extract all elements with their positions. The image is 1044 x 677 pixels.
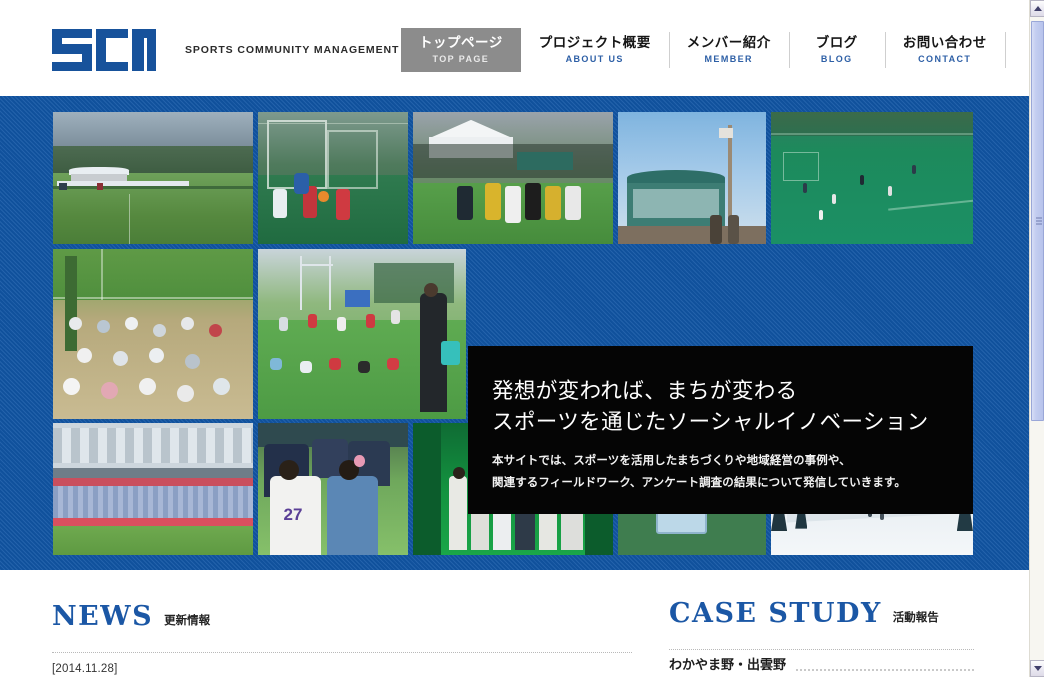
news-heading-en: NEWS	[52, 603, 153, 630]
nav-label-en: ABOUT US	[566, 53, 624, 67]
hero-message-panel: 発想が変われば、まちが変わる スポーツを通じたソーシャルイノベーション 本サイト…	[468, 346, 973, 514]
case-study-leader-dots	[796, 665, 974, 671]
hero-headline-line1: 発想が変われば、まちが変わる	[492, 376, 973, 407]
nav-label-jp: トップページ	[419, 34, 503, 52]
scrollbar-grip-icon	[1036, 218, 1042, 225]
lower-content: NEWS 更新情報 [2014.11.28] CASE STUDY 活動報告 わ…	[0, 570, 1029, 677]
case-study-list-item[interactable]: わかやま野・出雲野	[669, 657, 974, 673]
hero-photo-youth-baseball-team-27[interactable]: 27	[258, 423, 408, 555]
nav-item-member[interactable]: メンバー紹介 MEMBER	[669, 28, 789, 72]
hero-headline-line2: スポーツを通じたソーシャルイノベーション	[492, 407, 973, 438]
hero-photo-green-turf-hockey-pitch[interactable]	[771, 112, 973, 244]
nav-label-jp: メンバー紹介	[687, 34, 771, 52]
hero-band: 27 25	[0, 96, 1029, 570]
web-page: SPORTS COMMUNITY MANAGEMENT トップページ TOP P…	[0, 0, 1029, 677]
case-study-heading: CASE STUDY 活動報告	[669, 600, 974, 627]
nav-divider	[1005, 32, 1006, 68]
nav-label-en: TOP PAGE	[433, 53, 490, 67]
hero-photo-rugby-match-crowd-tent[interactable]	[413, 112, 613, 244]
case-study-item-title: わかやま野・出雲野	[669, 657, 786, 673]
news-heading-jp: 更新情報	[164, 616, 210, 631]
nav-label-en: CONTACT	[918, 53, 971, 67]
news-item-date[interactable]: [2014.11.28]	[52, 662, 632, 677]
hero-photo-lacrosse-practice-net[interactable]	[258, 112, 408, 244]
scroll-down-button[interactable]	[1030, 660, 1044, 677]
hero-photo-clubhouse-building[interactable]	[618, 112, 766, 244]
browser-viewport: SPORTS COMMUNITY MANAGEMENT トップページ TOP P…	[0, 0, 1044, 677]
scroll-up-button[interactable]	[1030, 0, 1044, 17]
scrollbar-track[interactable]	[1030, 17, 1044, 660]
news-list: [2014.11.28]	[52, 662, 632, 677]
nav-item-top-page[interactable]: トップページ TOP PAGE	[401, 28, 521, 72]
hero-sub-line2: 関連するフィールドワーク、アンケート調査の結果について発信していきます。	[492, 474, 973, 494]
main-nav: トップページ TOP PAGE プロジェクト概要 ABOUT US メンバー紹介…	[401, 28, 1006, 72]
news-section: NEWS 更新情報 [2014.11.28]	[52, 603, 632, 677]
case-study-section: CASE STUDY 活動報告 わかやま野・出雲野	[669, 600, 974, 673]
chevron-up-icon	[1034, 6, 1042, 11]
case-study-heading-jp: 活動報告	[893, 613, 939, 628]
hero-photo-youth-rugby-sitting[interactable]	[258, 249, 466, 419]
scm-logo-icon	[52, 29, 156, 71]
logo-tagline: SPORTS COMMUNITY MANAGEMENT	[185, 44, 399, 56]
case-study-divider	[669, 649, 974, 650]
hero-photo-stadium-interior-seats[interactable]	[53, 423, 253, 555]
nav-item-contact[interactable]: お問い合わせ CONTACT	[885, 28, 1005, 72]
nav-label-jp: お問い合わせ	[903, 34, 987, 52]
news-heading: NEWS 更新情報	[52, 603, 632, 630]
hero-photo-spectators-on-grass[interactable]	[53, 249, 253, 419]
nav-item-about-us[interactable]: プロジェクト概要 ABOUT US	[521, 28, 669, 72]
chevron-down-icon	[1034, 666, 1042, 671]
case-study-heading-en: CASE STUDY	[669, 600, 882, 627]
nav-label-en: BLOG	[821, 53, 853, 67]
nav-label-jp: ブログ	[816, 34, 858, 52]
scrollbar-thumb[interactable]	[1031, 21, 1044, 421]
nav-label-en: MEMBER	[705, 53, 753, 67]
nav-label-jp: プロジェクト概要	[539, 34, 651, 52]
nav-item-blog[interactable]: ブログ BLOG	[789, 28, 885, 72]
hero-photo-mountain-soccer-field[interactable]	[53, 112, 253, 244]
vertical-scrollbar[interactable]	[1029, 0, 1044, 677]
news-divider	[52, 652, 632, 653]
hero-sub-line1: 本サイトでは、スポーツを活用したまちづくりや地域経営の事例や、	[492, 452, 973, 472]
site-header: SPORTS COMMUNITY MANAGEMENT トップページ TOP P…	[0, 0, 1029, 96]
site-logo[interactable]: SPORTS COMMUNITY MANAGEMENT	[52, 29, 399, 71]
